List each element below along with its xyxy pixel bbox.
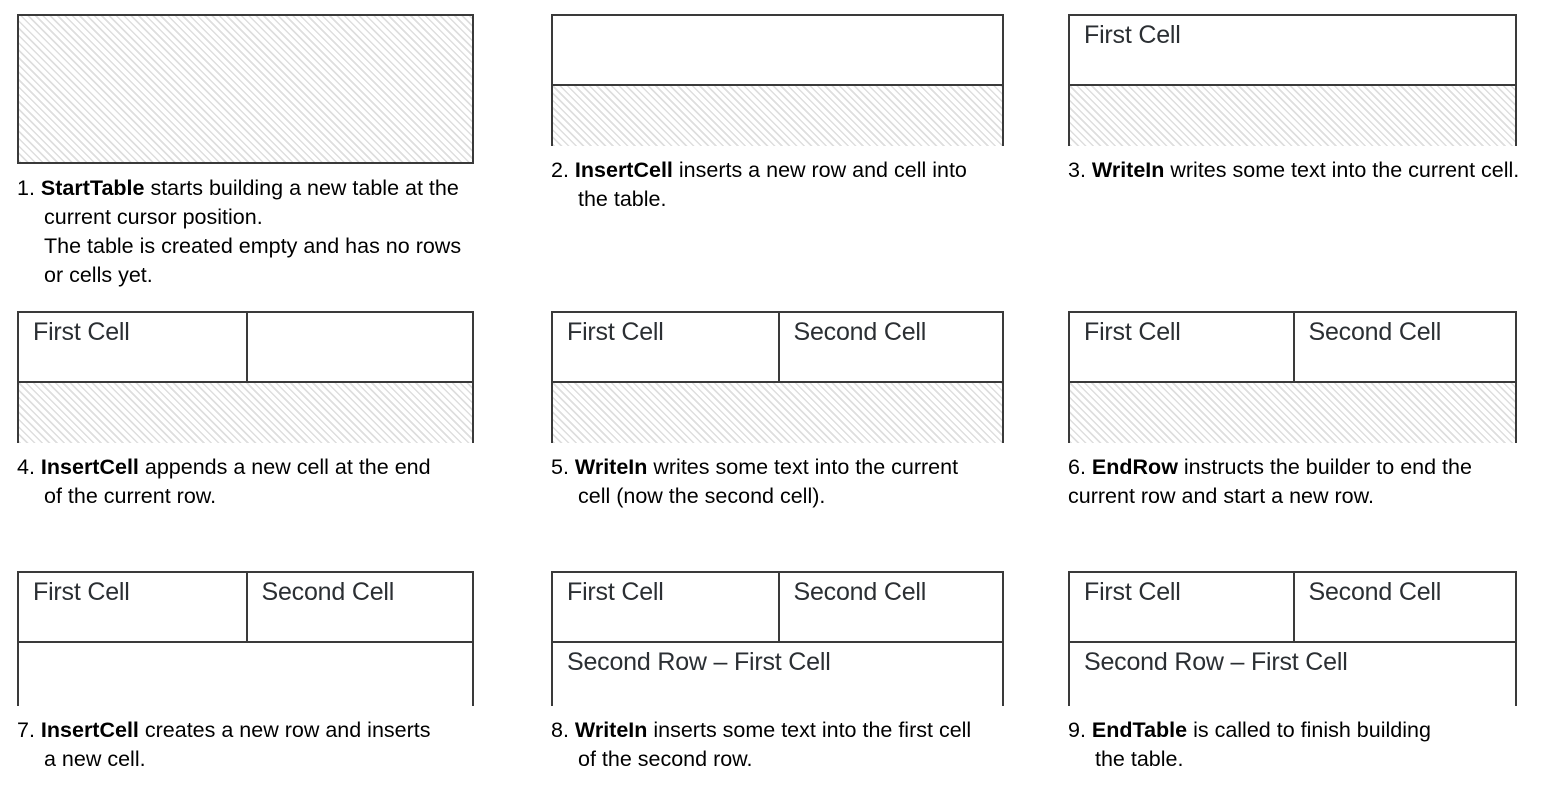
- table-end-marker-row: [553, 381, 1002, 441]
- table-end-marker-row: [19, 16, 472, 162]
- hatched-area: [553, 86, 1002, 146]
- step-9: First CellSecond CellSecond Row – First …: [1068, 571, 1550, 774]
- table-row: Second Row – First Cell: [1070, 641, 1515, 704]
- caption-line: 1. StartTable starts building a new tabl…: [17, 174, 494, 203]
- step-number: 6.: [1068, 455, 1086, 479]
- caption-line: 5. WriteIn writes some text into the cur…: [551, 453, 1024, 482]
- step-4: First Cell4. InsertCell appends a new ce…: [17, 311, 494, 511]
- step-2: 2. InsertCell inserts a new row and cell…: [551, 14, 1024, 214]
- command-name: InsertCell: [41, 718, 139, 742]
- step-6: First CellSecond Cell6. EndRow instructs…: [1068, 311, 1550, 511]
- caption-text: current cursor position.: [44, 205, 263, 229]
- table-diagram: First Cell: [1068, 14, 1517, 146]
- caption-line: 8. WriteIn inserts some text into the fi…: [551, 716, 1024, 745]
- table-end-marker-row: [19, 381, 472, 441]
- table-diagram: First CellSecond Cell: [551, 311, 1004, 443]
- table-cell-text: First Cell: [1084, 578, 1181, 606]
- table-diagram: First CellSecond Cell: [17, 571, 474, 706]
- caption-text: writes some text into the current cell.: [1164, 158, 1519, 182]
- step-5: First CellSecond Cell5. WriteIn writes s…: [551, 311, 1024, 511]
- caption-line: cell (now the second cell).: [551, 482, 1024, 511]
- step-number: 4.: [17, 455, 35, 479]
- step-number: 3.: [1068, 158, 1086, 182]
- step-7: First CellSecond Cell7. InsertCell creat…: [17, 571, 494, 774]
- table-diagram: First CellSecond Cell: [1068, 311, 1517, 443]
- table-diagram: First CellSecond CellSecond Row – First …: [551, 571, 1004, 706]
- caption-line: 4. InsertCell appends a new cell at the …: [17, 453, 494, 482]
- table-cell-text: First Cell: [1084, 318, 1181, 346]
- step-1: 1. StartTable starts building a new tabl…: [17, 14, 494, 290]
- table-cell: Second Cell: [778, 573, 1003, 641]
- table-cell: [246, 313, 473, 381]
- table-diagram: First Cell: [17, 311, 474, 443]
- step-number: 5.: [551, 455, 569, 479]
- table-cell-text: First Cell: [33, 578, 130, 606]
- step-number: 9.: [1068, 718, 1086, 742]
- table-cell: [553, 16, 1002, 84]
- table-cell: First Cell: [553, 313, 778, 381]
- caption-text: writes some text into the current: [647, 455, 958, 479]
- step-number: 2.: [551, 158, 569, 182]
- caption-text: a new cell.: [44, 747, 146, 771]
- table-cell-text: First Cell: [1084, 21, 1181, 49]
- step-caption: 6. EndRow instructs the builder to end t…: [1068, 453, 1550, 511]
- command-name: EndTable: [1092, 718, 1187, 742]
- table-cell: Second Cell: [1293, 313, 1516, 381]
- command-name: InsertCell: [41, 455, 139, 479]
- caption-text: the table.: [1095, 747, 1183, 771]
- table-cell: First Cell: [1070, 313, 1293, 381]
- table-diagram: [551, 14, 1004, 146]
- table-cell-text: First Cell: [567, 578, 664, 606]
- table-cell: Second Cell: [246, 573, 473, 641]
- caption-text: The table is created empty and has no ro…: [44, 234, 461, 258]
- caption-text: inserts some text into the first cell: [647, 718, 971, 742]
- table-row: First CellSecond Cell: [553, 573, 1002, 641]
- table-cell: Second Row – First Cell: [1070, 643, 1515, 706]
- caption-text: or cells yet.: [44, 263, 153, 287]
- table-cell: Second Cell: [778, 313, 1003, 381]
- table-cell: First Cell: [1070, 573, 1293, 641]
- caption-text: inserts a new row and cell into: [673, 158, 967, 182]
- table-cell: First Cell: [19, 313, 246, 381]
- step-caption: 1. StartTable starts building a new tabl…: [17, 174, 494, 290]
- table-end-marker-row: [1070, 381, 1515, 441]
- table-diagram: [17, 14, 474, 164]
- table-cell-text: Second Cell: [1309, 318, 1442, 346]
- table-row: [19, 641, 472, 704]
- table-cell: [19, 643, 472, 706]
- table-cell: First Cell: [1070, 16, 1515, 84]
- caption-text: starts building a new table at the: [144, 176, 458, 200]
- table-row: First CellSecond Cell: [1070, 313, 1515, 381]
- table-cell-text: First Cell: [33, 318, 130, 346]
- step-number: 7.: [17, 718, 35, 742]
- caption-line: of the current row.: [17, 482, 494, 511]
- table-cell: First Cell: [19, 573, 246, 641]
- caption-line: The table is created empty and has no ro…: [17, 232, 494, 261]
- command-name: WriteIn: [575, 718, 647, 742]
- caption-line: the table.: [551, 185, 1024, 214]
- step-caption: 3. WriteIn writes some text into the cur…: [1068, 156, 1550, 185]
- table-row: First CellSecond Cell: [1070, 573, 1515, 641]
- hatched-area: [19, 383, 472, 443]
- hatched-area: [19, 16, 472, 162]
- hatched-area: [1070, 86, 1515, 146]
- hatched-area: [1070, 383, 1515, 443]
- step-caption: 7. InsertCell creates a new row and inse…: [17, 716, 494, 774]
- command-name: WriteIn: [575, 455, 647, 479]
- table-cell-text: Second Cell: [794, 318, 927, 346]
- step-8: First CellSecond CellSecond Row – First …: [551, 571, 1024, 774]
- caption-line: the table.: [1068, 745, 1550, 774]
- table-end-marker-row: [1070, 84, 1515, 144]
- caption-line: of the second row.: [551, 745, 1024, 774]
- caption-text: of the second row.: [578, 747, 753, 771]
- command-name: InsertCell: [575, 158, 673, 182]
- caption-line: current row and start a new row.: [1068, 482, 1550, 511]
- caption-line: or cells yet.: [17, 261, 494, 290]
- caption-line: current cursor position.: [17, 203, 494, 232]
- caption-line: 7. InsertCell creates a new row and inse…: [17, 716, 494, 745]
- step-number: 8.: [551, 718, 569, 742]
- caption-text: current row and start a new row.: [1068, 484, 1374, 508]
- table-cell: Second Cell: [1293, 573, 1516, 641]
- table-cell-text: Second Cell: [1309, 578, 1442, 606]
- command-name: StartTable: [41, 176, 145, 200]
- step-caption: 5. WriteIn writes some text into the cur…: [551, 453, 1024, 511]
- step-caption: 4. InsertCell appends a new cell at the …: [17, 453, 494, 511]
- caption-line: 3. WriteIn writes some text into the cur…: [1068, 156, 1550, 185]
- table-builder-figure: 1. StartTable starts building a new tabl…: [0, 0, 1564, 806]
- table-row: Second Row – First Cell: [553, 641, 1002, 704]
- caption-line: 6. EndRow instructs the builder to end t…: [1068, 453, 1550, 482]
- caption-text: is called to finish building: [1187, 718, 1431, 742]
- table-row: First Cell: [19, 313, 472, 381]
- caption-line: 9. EndTable is called to finish building: [1068, 716, 1550, 745]
- command-name: EndRow: [1092, 455, 1178, 479]
- caption-line: 2. InsertCell inserts a new row and cell…: [551, 156, 1024, 185]
- table-row: First CellSecond Cell: [553, 313, 1002, 381]
- table-cell-text: Second Row – First Cell: [567, 648, 831, 676]
- table-end-marker-row: [553, 84, 1002, 144]
- step-3: First Cell3. WriteIn writes some text in…: [1068, 14, 1550, 185]
- table-cell: First Cell: [553, 573, 778, 641]
- step-caption: 9. EndTable is called to finish building…: [1068, 716, 1550, 774]
- table-cell-text: Second Cell: [262, 578, 395, 606]
- table-row: [553, 16, 1002, 84]
- caption-text: appends a new cell at the end: [139, 455, 431, 479]
- step-caption: 8. WriteIn inserts some text into the fi…: [551, 716, 1024, 774]
- hatched-area: [553, 383, 1002, 443]
- table-cell: Second Row – First Cell: [553, 643, 1002, 706]
- step-number: 1.: [17, 176, 35, 200]
- caption-line: a new cell.: [17, 745, 494, 774]
- table-cell-text: Second Row – First Cell: [1084, 648, 1348, 676]
- table-row: First CellSecond Cell: [19, 573, 472, 641]
- table-cell-text: Second Cell: [794, 578, 927, 606]
- caption-text: the table.: [578, 187, 666, 211]
- step-caption: 2. InsertCell inserts a new row and cell…: [551, 156, 1024, 214]
- table-cell-text: First Cell: [567, 318, 664, 346]
- table-row: First Cell: [1070, 16, 1515, 84]
- caption-text: creates a new row and inserts: [139, 718, 431, 742]
- caption-text: instructs the builder to end the: [1178, 455, 1472, 479]
- command-name: WriteIn: [1092, 158, 1164, 182]
- table-diagram: First CellSecond CellSecond Row – First …: [1068, 571, 1517, 706]
- caption-text: of the current row.: [44, 484, 216, 508]
- caption-text: cell (now the second cell).: [578, 484, 825, 508]
